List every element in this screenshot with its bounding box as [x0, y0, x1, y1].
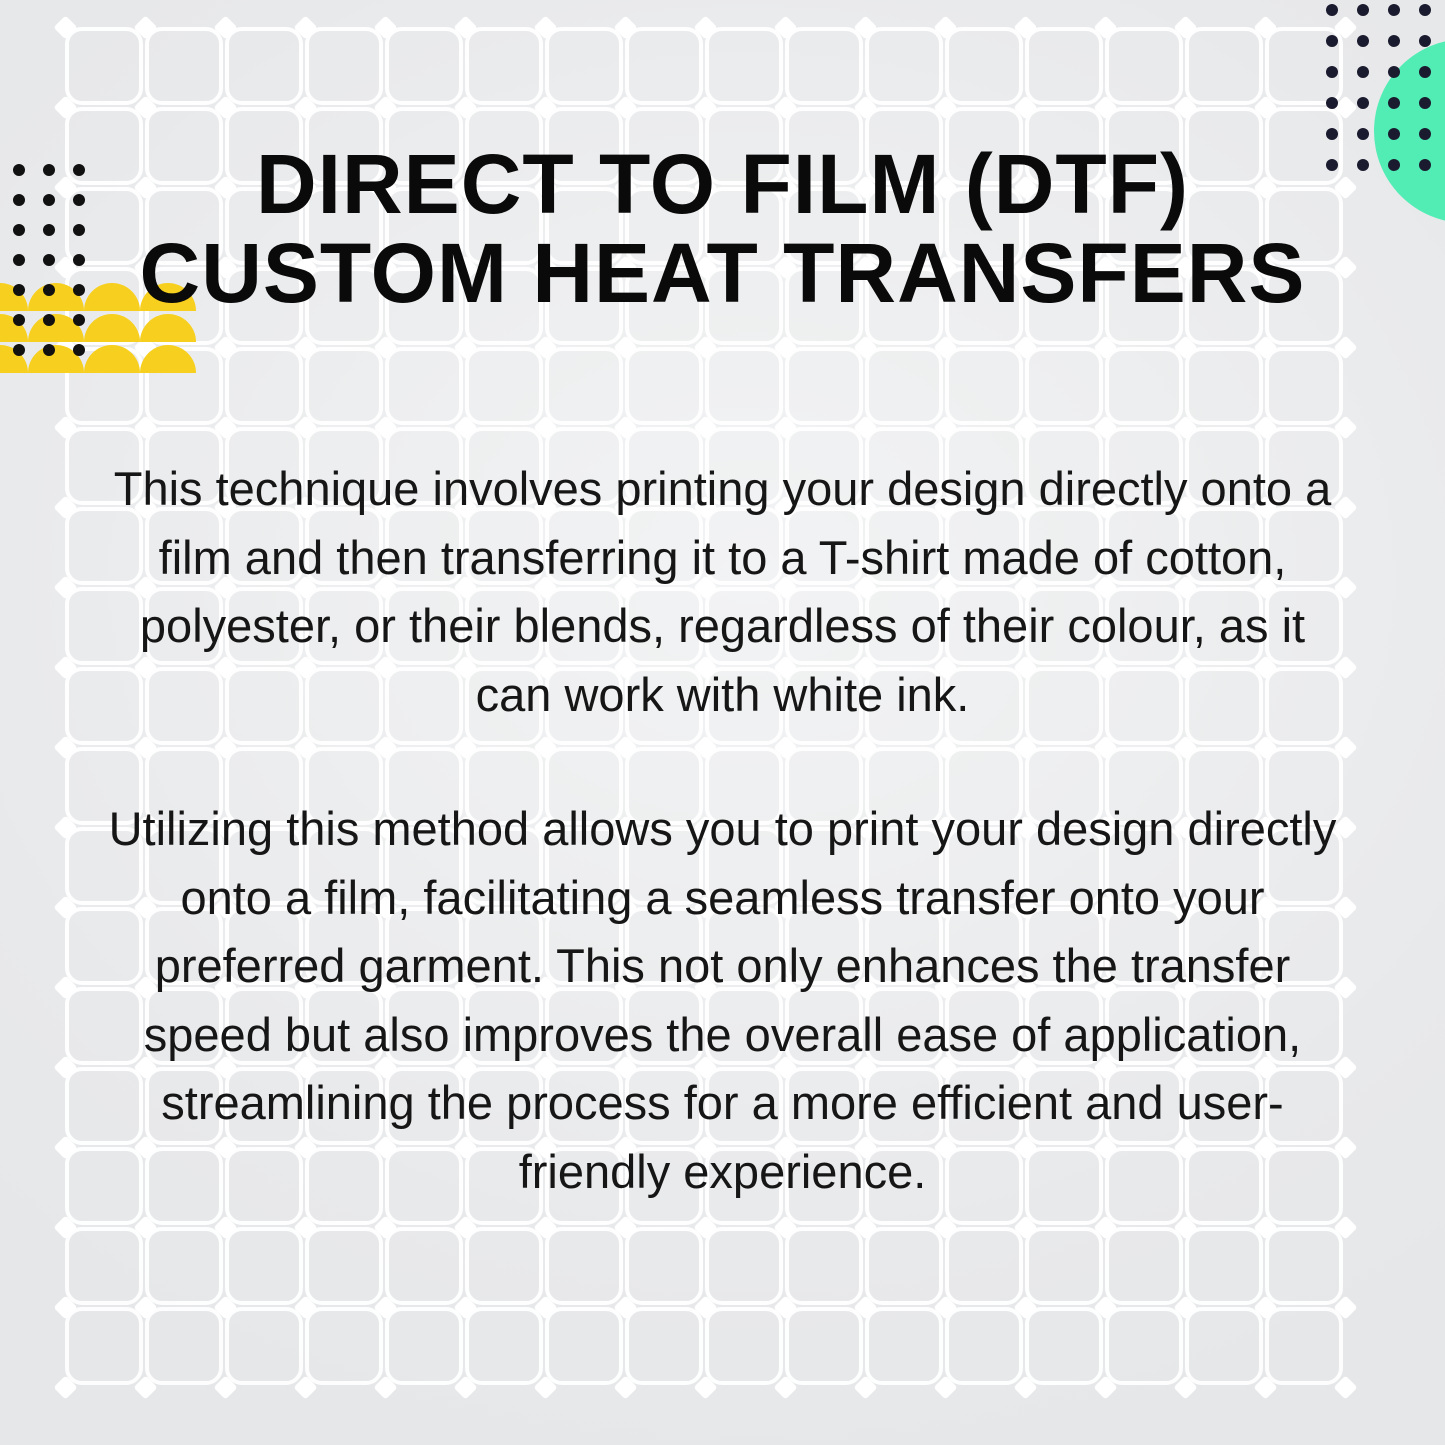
page-title: DIRECT TO FILM (DTF) CUSTOM HEAT TRANSFE… — [120, 140, 1325, 318]
page-title-line-1: DIRECT TO FILM (DTF) — [120, 140, 1325, 229]
poster-canvas: DIRECT TO FILM (DTF) CUSTOM HEAT TRANSFE… — [0, 0, 1445, 1445]
body-paragraph-2: Utilizing this method allows you to prin… — [90, 795, 1355, 1207]
body-paragraph-1: This technique involves printing your de… — [100, 455, 1345, 729]
poster-content: DIRECT TO FILM (DTF) CUSTOM HEAT TRANSFE… — [0, 0, 1445, 1445]
page-title-line-2: CUSTOM HEAT TRANSFERS — [120, 229, 1325, 318]
